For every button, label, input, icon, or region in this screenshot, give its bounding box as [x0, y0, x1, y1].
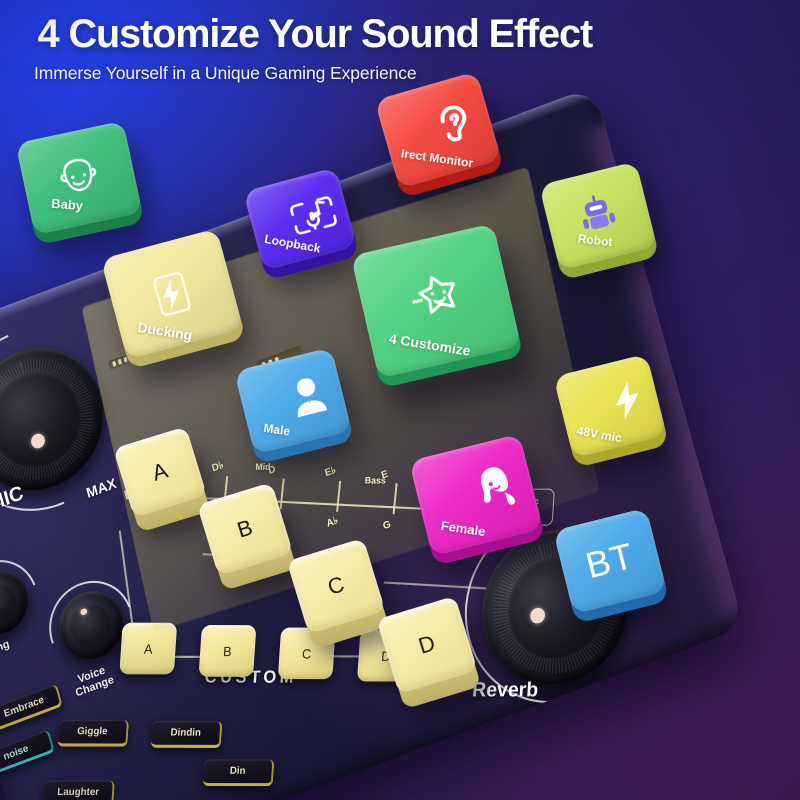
sfx-button-label: noise [2, 743, 29, 763]
tile-loopback[interactable]: Loopback [243, 167, 357, 271]
page-title: 4 Customize Your Sound Effect [4, 0, 796, 54]
tile-ducking[interactable]: Ducking [101, 228, 244, 360]
sfx-button-laughter[interactable]: Laughter [43, 781, 115, 800]
sfx-button-din[interactable]: Din [203, 759, 275, 786]
sfx-button-label: Embrace [3, 694, 46, 719]
sfx-button-label: Giggle [77, 726, 108, 737]
tile-label: Baby [51, 196, 84, 214]
sfx-button-label: Din [229, 766, 245, 777]
pad-button-label: C [302, 646, 312, 661]
pad-button-b[interactable]: B [199, 625, 257, 677]
page-subtitle: Immerse Yourself in a Unique Gaming Expe… [0, 54, 800, 84]
sfx-button-label: Laughter [57, 787, 99, 798]
keycap-label: D [416, 630, 439, 660]
sfx-button-giggle[interactable]: Giggle [57, 720, 129, 747]
keycap-label: B [234, 514, 256, 543]
pad-button-label: A [144, 641, 153, 656]
tile-label: BT [582, 535, 639, 587]
keycap-label: C [325, 571, 348, 601]
knob-backing-label: Backing [0, 638, 11, 665]
sfx-button-noise[interactable]: noise [0, 730, 55, 778]
sfx-button-embrace[interactable]: Embrace [0, 684, 63, 732]
pad-button-label: B [223, 643, 232, 658]
header: 4 Customize Your Sound Effect Immerse Yo… [0, 0, 800, 84]
keycap-label: A [149, 457, 171, 486]
sfx-button-label: Dindin [170, 727, 201, 738]
tile-baby[interactable]: Baby [15, 121, 142, 236]
product-hero-image: 4 Customize Your Sound Effect Immerse Yo… [0, 0, 800, 800]
sfx-button-dindin[interactable]: Dindin [151, 721, 223, 748]
pad-button-a[interactable]: A [119, 623, 177, 675]
